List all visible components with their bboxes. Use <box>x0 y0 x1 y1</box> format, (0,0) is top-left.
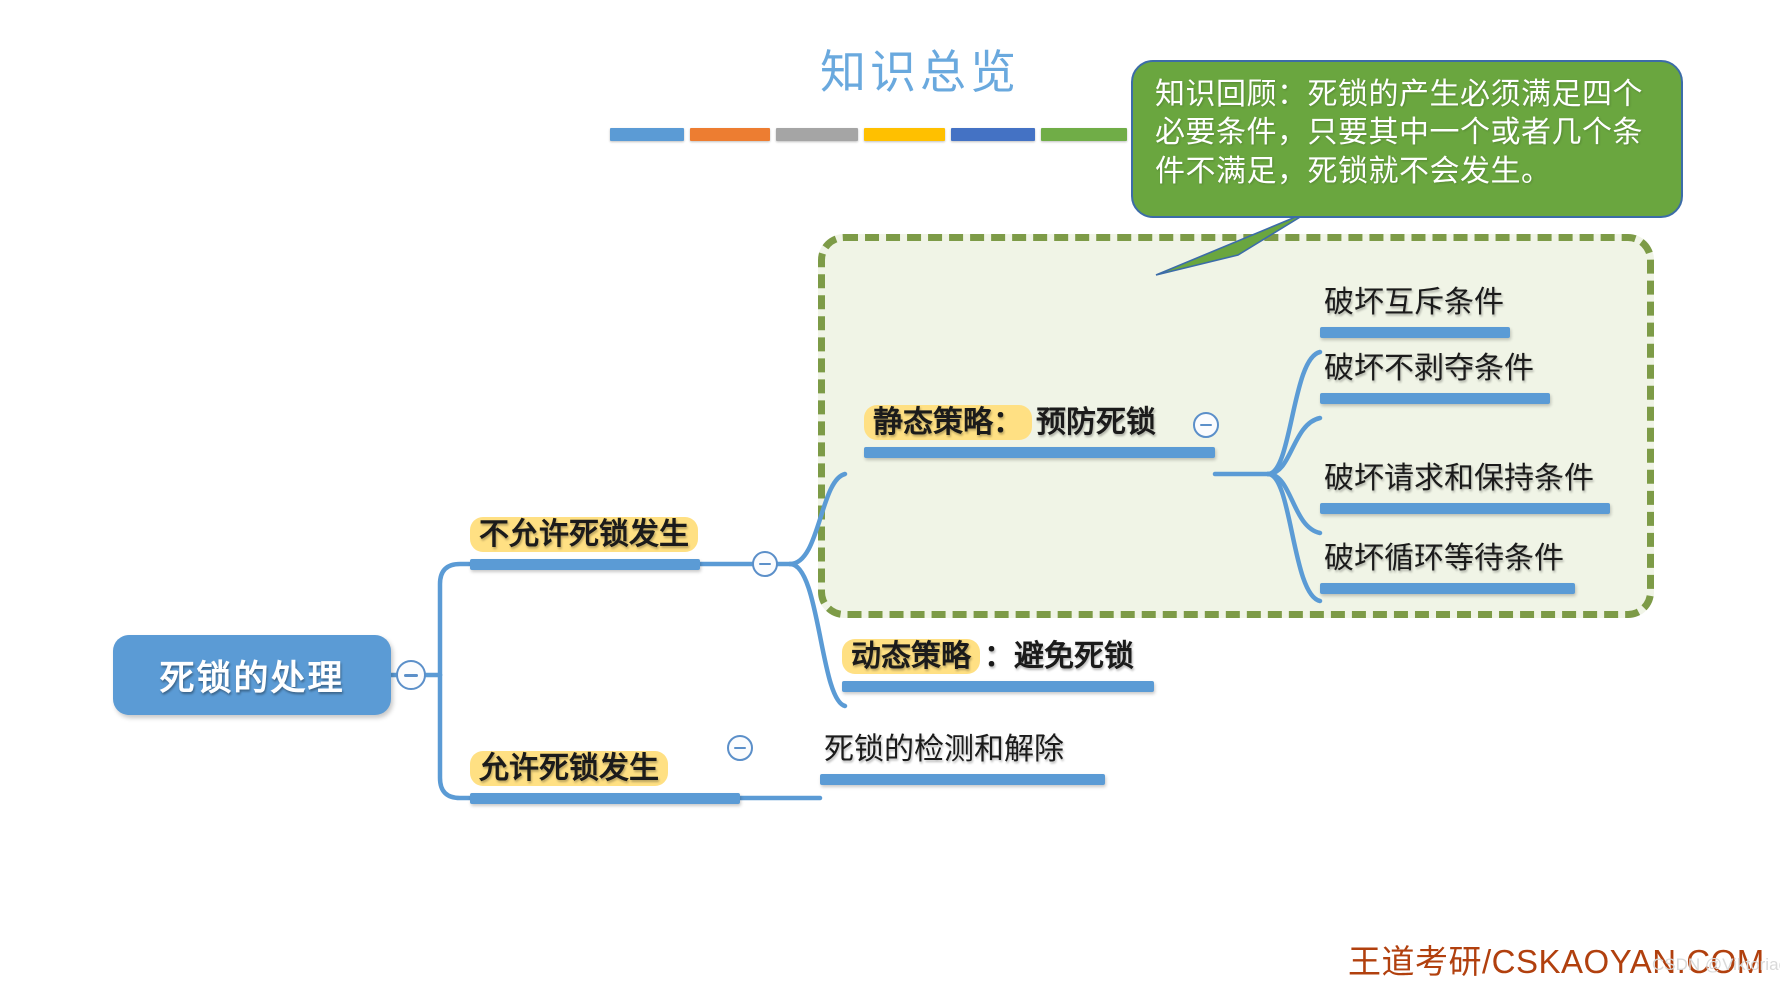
node-dynamic-strategy[interactable]: 动态策略：避免死锁 <box>842 640 1154 692</box>
node-static-strategy[interactable]: 静态策略：预防死锁 <box>864 406 1215 458</box>
title-rule <box>610 128 1127 141</box>
allow-deadlock-collapse-toggle[interactable] <box>727 735 753 761</box>
node-static-strategy-plain: 预防死锁 <box>1032 406 1156 439</box>
node-detect-and-recover-bar <box>820 774 1105 785</box>
csdn-watermark: CSDN @Viktoriae <box>1652 955 1780 975</box>
node-detect-and-recover-label: 死锁的检测和解除 <box>820 733 1064 766</box>
node-break-circular-wait-label: 破坏循环等待条件 <box>1320 542 1564 575</box>
node-break-circular-wait[interactable]: 破坏循环等待条件 <box>1320 542 1575 594</box>
node-break-no-preemption-bar <box>1320 393 1550 404</box>
node-dynamic-strategy-highlight: 动态策略 <box>842 639 980 674</box>
node-break-hold-and-wait-label: 破坏请求和保持条件 <box>1320 462 1594 495</box>
node-break-hold-and-wait-bar <box>1320 503 1610 514</box>
node-no-deadlock-label: 不允许死锁发生 <box>470 517 698 552</box>
rule-segment-green <box>1041 128 1127 141</box>
rule-segment-orange <box>690 128 770 141</box>
rule-segment-blue <box>610 128 684 141</box>
rule-segment-gray <box>776 128 858 141</box>
root-node-label: 死锁的处理 <box>159 650 344 701</box>
node-break-mutual-exclusion[interactable]: 破坏互斥条件 <box>1320 286 1510 338</box>
page-title: 知识总览 <box>790 36 1050 102</box>
rule-segment-indigo <box>951 128 1035 141</box>
knowledge-recap-callout: 知识回顾：死锁的产生必须满足四个必要条件，只要其中一个或者几个条件不满足，死锁就… <box>1131 60 1683 218</box>
node-no-deadlock-bar <box>470 559 700 570</box>
node-break-mutual-exclusion-label: 破坏互斥条件 <box>1320 286 1504 319</box>
node-no-deadlock[interactable]: 不允许死锁发生 <box>470 518 700 570</box>
node-break-no-preemption[interactable]: 破坏不剥夺条件 <box>1320 352 1550 404</box>
node-static-strategy-highlight: 静态策略： <box>864 405 1032 440</box>
root-node[interactable]: 死锁的处理 <box>113 635 391 715</box>
knowledge-recap-callout-text: 知识回顾：死锁的产生必须满足四个必要条件，只要其中一个或者几个条件不满足，死锁就… <box>1155 76 1661 191</box>
static-strategy-collapse-toggle[interactable] <box>1193 412 1219 438</box>
node-break-no-preemption-label: 破坏不剥夺条件 <box>1320 352 1534 385</box>
root-collapse-toggle[interactable] <box>396 660 426 690</box>
no-deadlock-collapse-toggle[interactable] <box>752 551 778 577</box>
rule-segment-yellow <box>864 128 945 141</box>
node-allow-deadlock-label: 允许死锁发生 <box>470 751 668 786</box>
node-allow-deadlock-bar <box>470 793 740 804</box>
node-break-hold-and-wait[interactable]: 破坏请求和保持条件 <box>1320 462 1610 514</box>
node-allow-deadlock[interactable]: 允许死锁发生 <box>470 752 740 804</box>
node-detect-and-recover[interactable]: 死锁的检测和解除 <box>820 733 1105 785</box>
node-break-circular-wait-bar <box>1320 583 1575 594</box>
node-dynamic-strategy-bar <box>842 681 1154 692</box>
node-dynamic-strategy-plain: ：避免死锁 <box>980 640 1134 673</box>
node-break-mutual-exclusion-bar <box>1320 327 1510 338</box>
node-static-strategy-bar <box>864 447 1215 458</box>
